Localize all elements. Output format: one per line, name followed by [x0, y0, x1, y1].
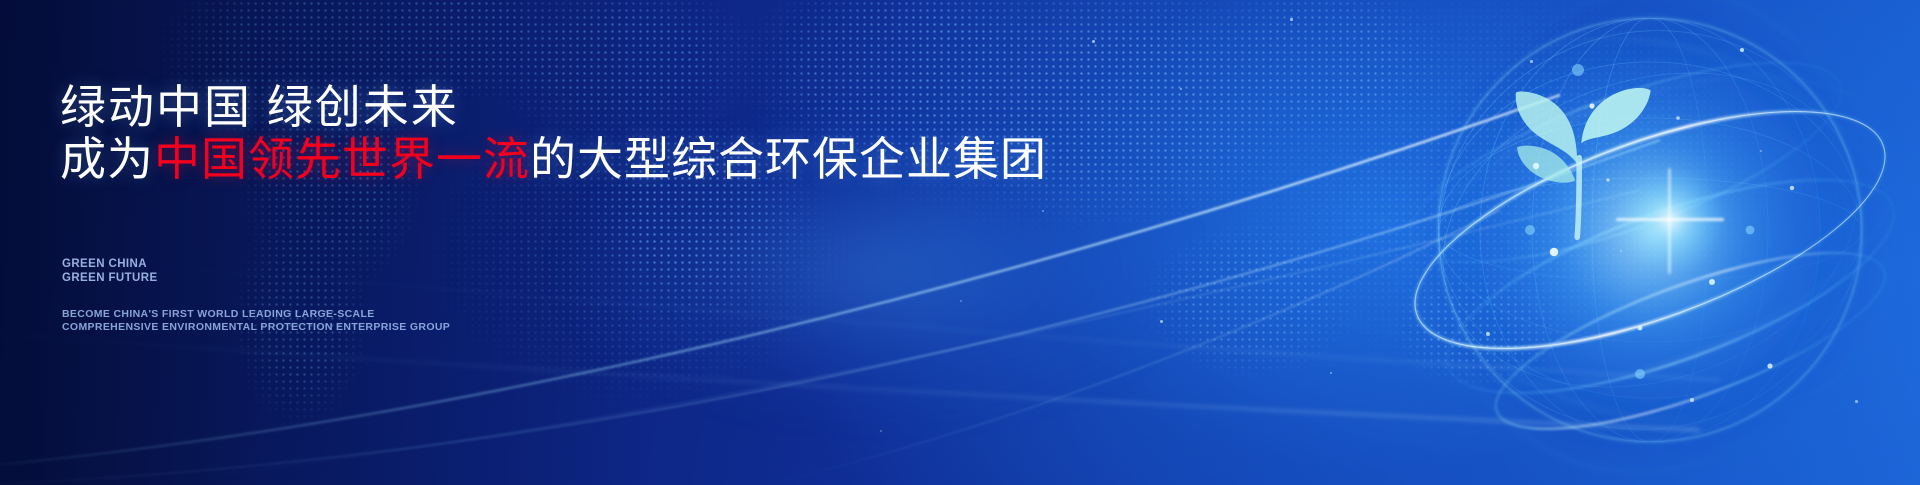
english-statement-line-1: BECOME CHINA'S FIRST WORLD LEADING LARGE… [62, 308, 450, 321]
english-statement: BECOME CHINA'S FIRST WORLD LEADING LARGE… [62, 308, 450, 333]
glowing-wireframe-globe [1340, 0, 1920, 485]
english-slogan: GREEN CHINA GREEN FUTURE [62, 258, 158, 285]
banner-copy: 绿动中国 绿创未来 成为中国领先世界一流的大型综合环保企业集团 GREEN CH… [60, 0, 1110, 485]
headline-line-1: 绿动中国 绿创未来 [60, 82, 459, 133]
headline-line-2-prefix: 成为 [60, 133, 154, 185]
english-slogan-line-2: GREEN FUTURE [62, 272, 158, 286]
headline-line-2: 成为中国领先世界一流的大型综合环保企业集团 [60, 134, 1047, 185]
headline-line-2-highlight: 中国领先世界一流 [154, 133, 530, 185]
headline-line-2-suffix: 的大型综合环保企业集团 [530, 133, 1047, 185]
english-slogan-line-1: GREEN CHINA [62, 258, 158, 272]
sprout-leaf-icon [1516, 88, 1651, 237]
english-statement-line-2: COMPREHENSIVE ENVIRONMENTAL PROTECTION E… [62, 321, 450, 334]
hero-banner: 绿动中国 绿创未来 成为中国领先世界一流的大型综合环保企业集团 GREEN CH… [0, 0, 1920, 485]
